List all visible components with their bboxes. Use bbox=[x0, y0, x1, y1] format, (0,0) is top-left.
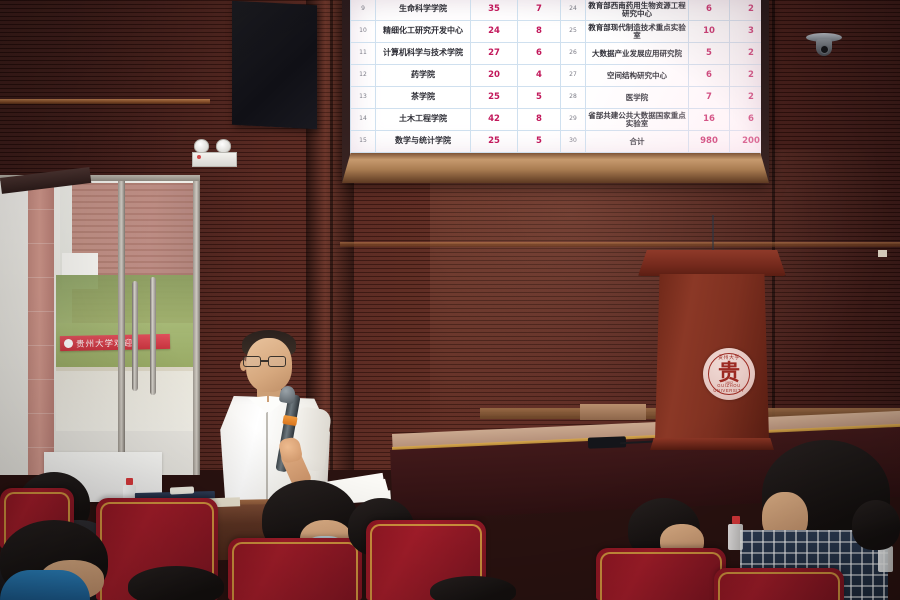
headcount: 25 bbox=[471, 131, 518, 153]
auditorium-seat[interactable] bbox=[714, 568, 844, 600]
wall-trim-strip-1 bbox=[0, 99, 210, 104]
quota: 5 bbox=[518, 87, 561, 109]
unit-name: 土木工程学院 bbox=[376, 109, 471, 131]
emblem-english-arc: GUIZHOU UNIVERSITY bbox=[703, 383, 755, 393]
screen-bottom-bezel bbox=[342, 153, 769, 183]
walkway-outside bbox=[56, 371, 200, 431]
brick-pillar bbox=[28, 175, 54, 475]
table-row: 10精细化工研究开发中心24825教育部现代制造技术重点实验室103 bbox=[351, 21, 762, 43]
quota-right: 2 bbox=[730, 65, 762, 87]
quota: 4 bbox=[518, 65, 561, 87]
quota-right: 2 bbox=[730, 87, 762, 109]
row-index: 13 bbox=[351, 87, 376, 109]
quota-right: 6 bbox=[730, 109, 762, 131]
headcount-right: 7 bbox=[689, 87, 730, 109]
university-emblem: 贵州大学 贵 1902 GUIZHOU UNIVERSITY bbox=[703, 348, 755, 400]
unit-name-right: 医学院 bbox=[586, 87, 689, 109]
headcount-right: 5 bbox=[689, 43, 730, 65]
unit-name: 茶学院 bbox=[376, 87, 471, 109]
door-handle-left[interactable] bbox=[132, 281, 138, 391]
headcount: 25 bbox=[471, 87, 518, 109]
banner-logo-icon bbox=[64, 339, 73, 348]
window-mullion-right bbox=[193, 175, 200, 475]
headcount: 35 bbox=[471, 0, 518, 21]
audience-head bbox=[852, 500, 900, 550]
quota: 6 bbox=[518, 43, 561, 65]
table-row: 15数学与统计学院25530合计980200 bbox=[351, 131, 762, 153]
emergency-indicator-icon bbox=[197, 155, 201, 159]
lectern: 贵州大学 贵 1902 GUIZHOU UNIVERSITY bbox=[638, 250, 786, 455]
row-index: 9 bbox=[351, 0, 376, 21]
eyeglasses-icon bbox=[243, 356, 295, 367]
seat-gold-piping bbox=[600, 552, 722, 600]
row-index-right: 26 bbox=[561, 43, 586, 65]
quota-right: 200 bbox=[730, 131, 762, 153]
unit-name-right: 省部共建公共大数据国家重点实验室 bbox=[586, 109, 689, 131]
wall-speaker-panel bbox=[232, 1, 317, 129]
surveillance-camera-icon bbox=[806, 33, 842, 59]
bottle-body bbox=[728, 524, 743, 550]
bottle-cap bbox=[126, 478, 133, 485]
table-row: 13茶学院25528医学院72 bbox=[351, 87, 762, 109]
hanging-microphone-cable bbox=[712, 215, 714, 253]
wall-trim-strip-2 bbox=[340, 242, 900, 247]
quota: 8 bbox=[518, 109, 561, 131]
unit-name: 计算机科学与技术学院 bbox=[376, 43, 471, 65]
unit-name-right: 合计 bbox=[586, 131, 689, 153]
seat-gold-piping bbox=[718, 572, 840, 600]
window-mullion-center bbox=[118, 175, 125, 475]
row-index: 12 bbox=[351, 65, 376, 87]
headcount-right: 6 bbox=[689, 0, 730, 21]
table-row: 14土木工程学院42829省部共建公共大数据国家重点实验室166 bbox=[351, 109, 762, 131]
lectern-base bbox=[650, 438, 774, 450]
emergency-lamp-left-icon bbox=[194, 139, 209, 153]
desk-small-item bbox=[170, 486, 194, 494]
slide-data-table: 9生命科学学院35724教育部西南药用生物资源工程研究中心6210精细化工研究开… bbox=[350, 0, 761, 153]
quota-right: 2 bbox=[730, 0, 762, 21]
quota: 5 bbox=[518, 131, 561, 153]
audience-head bbox=[430, 576, 516, 600]
unit-name: 药学院 bbox=[376, 65, 471, 87]
bottle-cap bbox=[732, 516, 740, 524]
headcount: 20 bbox=[471, 65, 518, 87]
unit-name-right: 空间结构研究中心 bbox=[586, 65, 689, 87]
quota-right: 3 bbox=[730, 21, 762, 43]
unit-name: 数学与统计学院 bbox=[376, 131, 471, 153]
headcount-right: 10 bbox=[689, 21, 730, 43]
lectern-body: 贵州大学 贵 1902 GUIZHOU UNIVERSITY bbox=[655, 274, 769, 440]
unit-name: 生命科学学院 bbox=[376, 0, 471, 21]
row-index: 11 bbox=[351, 43, 376, 65]
camera-lens-icon bbox=[820, 45, 829, 54]
seat-gold-piping bbox=[232, 542, 358, 600]
water-bottle bbox=[728, 516, 743, 550]
lecture-hall-photo: 贵州大学欢迎 9生命科学学院35724教育部西南药用生物资源工程研究中心6210… bbox=[0, 0, 900, 600]
headcount: 24 bbox=[471, 21, 518, 43]
audience-head bbox=[128, 566, 224, 600]
unit-name-right: 教育部西南药用生物资源工程研究中心 bbox=[586, 0, 689, 21]
quota: 7 bbox=[518, 0, 561, 21]
row-index-right: 28 bbox=[561, 87, 586, 109]
headcount: 27 bbox=[471, 43, 518, 65]
emergency-lamp-right-icon bbox=[216, 139, 231, 153]
lectern-top bbox=[638, 250, 786, 276]
emergency-light-body bbox=[192, 152, 237, 167]
row-index-right: 24 bbox=[561, 0, 586, 21]
quota: 8 bbox=[518, 21, 561, 43]
unit-name-right: 大数据产业发展应用研究院 bbox=[586, 43, 689, 65]
projection-screen-frame: 9生命科学学院35724教育部西南药用生物资源工程研究中心6210精细化工研究开… bbox=[342, 0, 769, 183]
table-row: 9生命科学学院35724教育部西南药用生物资源工程研究中心62 bbox=[351, 0, 762, 21]
row-index: 14 bbox=[351, 109, 376, 131]
wall-outlet-plate bbox=[878, 250, 887, 257]
table-row: 12药学院20427空间结构研究中心62 bbox=[351, 65, 762, 87]
eyeglass-lens-left bbox=[243, 356, 261, 367]
auditorium-seat[interactable] bbox=[228, 538, 362, 600]
row-index-right: 25 bbox=[561, 21, 586, 43]
audience-shoulders bbox=[0, 570, 90, 600]
unit-name-right: 教育部现代制造技术重点实验室 bbox=[586, 21, 689, 43]
headcount-right: 16 bbox=[689, 109, 730, 131]
projection-screen: 9生命科学学院35724教育部西南药用生物资源工程研究中心6210精细化工研究开… bbox=[350, 0, 761, 156]
eyeglass-lens-right bbox=[268, 356, 286, 367]
headcount: 42 bbox=[471, 109, 518, 131]
headcount-right: 980 bbox=[689, 131, 730, 153]
emblem-chinese-arc: 贵州大学 bbox=[703, 354, 755, 361]
row-index-right: 29 bbox=[561, 109, 586, 131]
row-index: 10 bbox=[351, 21, 376, 43]
microphone-icon bbox=[279, 385, 297, 404]
headcount-right: 6 bbox=[689, 65, 730, 87]
door-handle-right[interactable] bbox=[150, 277, 156, 395]
eyeglass-bridge bbox=[261, 360, 268, 362]
table-row: 11计算机科学与技术学院27626大数据产业发展应用研究院52 bbox=[351, 43, 762, 65]
quota-right: 2 bbox=[730, 43, 762, 65]
stage-step bbox=[580, 404, 646, 420]
row-index-right: 27 bbox=[561, 65, 586, 87]
auditorium-seat[interactable] bbox=[596, 548, 726, 600]
emergency-light-fixture bbox=[192, 139, 237, 167]
unit-name: 精细化工研究开发中心 bbox=[376, 21, 471, 43]
row-index-right: 30 bbox=[561, 131, 586, 153]
row-index: 15 bbox=[351, 131, 376, 153]
